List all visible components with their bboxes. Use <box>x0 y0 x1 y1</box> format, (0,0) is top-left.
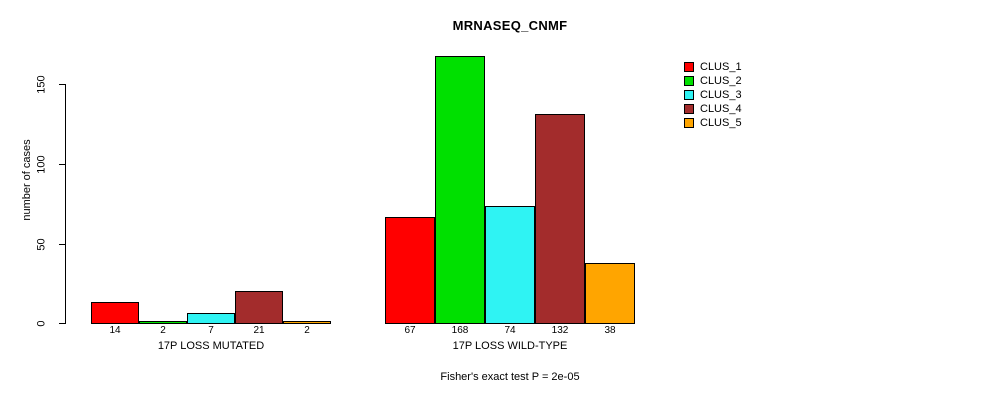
legend-item-clus-4[interactable]: CLUS_4 <box>684 102 742 116</box>
legend-swatch-icon <box>684 118 694 128</box>
bar-clus-1[interactable] <box>91 302 139 324</box>
bar-count-right-4: 132 <box>535 326 585 336</box>
chart-canvas: MRNASEQ_CNMF 150 100 50 0 number of case… <box>0 0 990 400</box>
y-tick-label-50: 50 <box>37 225 48 265</box>
footer-note: Fisher's exact test P = 2e-05 <box>15 371 990 383</box>
bar-count-left-2: 2 <box>139 326 187 336</box>
panel-17p-loss-wild-type <box>385 84 635 324</box>
panel-label-left: 17P LOSS MUTATED <box>91 341 331 352</box>
legend-label: CLUS_5 <box>700 118 742 129</box>
y-tick-label-0: 0 <box>37 304 48 344</box>
panel-17p-loss-mutated <box>91 84 331 324</box>
y-axis-title: number of cases <box>21 110 33 250</box>
bar-clus-2[interactable] <box>435 56 485 324</box>
legend-label: CLUS_1 <box>700 62 742 73</box>
legend-label: CLUS_2 <box>700 76 742 87</box>
legend-item-clus-5[interactable]: CLUS_5 <box>684 116 742 130</box>
legend-swatch-icon <box>684 90 694 100</box>
legend-label: CLUS_4 <box>700 104 742 115</box>
bar-count-right-3: 74 <box>485 326 535 336</box>
bar-clus-3[interactable] <box>187 313 235 324</box>
y-tick-0 <box>59 323 66 324</box>
legend-swatch-icon <box>684 76 694 86</box>
bar-clus-3[interactable] <box>485 206 535 324</box>
bar-count-right-5: 38 <box>585 326 635 336</box>
legend-item-clus-1[interactable]: CLUS_1 <box>684 60 742 74</box>
panel-label-right: 17P LOSS WILD-TYPE <box>385 341 635 352</box>
bar-clus-4[interactable] <box>535 114 585 324</box>
bar-count-left-4: 21 <box>235 326 283 336</box>
legend-label: CLUS_3 <box>700 90 742 101</box>
bar-count-right-1: 67 <box>385 326 435 336</box>
y-axis-line <box>65 84 66 324</box>
legend-item-clus-2[interactable]: CLUS_2 <box>684 74 742 88</box>
bar-count-left-1: 14 <box>91 326 139 336</box>
legend-item-clus-3[interactable]: CLUS_3 <box>684 88 742 102</box>
y-tick-150 <box>59 84 66 85</box>
page-title: MRNASEQ_CNMF <box>15 18 990 33</box>
bar-clus-5[interactable] <box>585 263 635 324</box>
y-tick-label-150: 150 <box>37 65 48 105</box>
y-tick-100 <box>59 164 66 165</box>
y-tick-50 <box>59 244 66 245</box>
bar-clus-2[interactable] <box>139 321 187 324</box>
legend-swatch-icon <box>684 104 694 114</box>
bar-count-left-5: 2 <box>283 326 331 336</box>
bar-clus-5[interactable] <box>283 321 331 324</box>
legend-swatch-icon <box>684 62 694 72</box>
bar-clus-4[interactable] <box>235 291 283 324</box>
legend: CLUS_1 CLUS_2 CLUS_3 CLUS_4 CLUS_5 <box>684 60 742 130</box>
y-tick-label-100: 100 <box>37 145 48 185</box>
bar-count-left-3: 7 <box>187 326 235 336</box>
bar-clus-1[interactable] <box>385 217 435 324</box>
bar-count-right-2: 168 <box>435 326 485 336</box>
